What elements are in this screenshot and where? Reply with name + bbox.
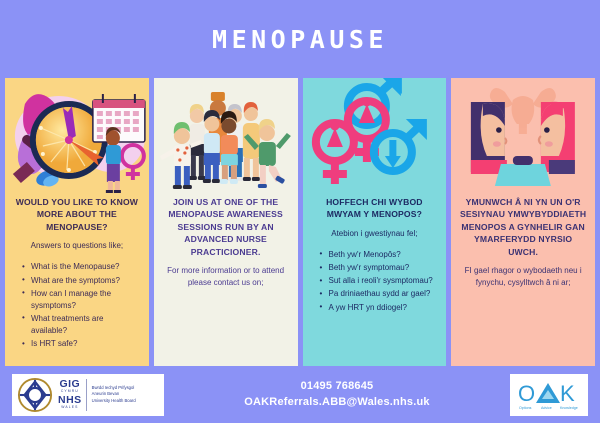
gender-symbols-icon — [303, 78, 447, 196]
list-item: What treatments are available? — [31, 313, 141, 337]
svg-text:O: O — [518, 381, 535, 406]
list-item: Beth yw'r symptomau? — [329, 262, 439, 274]
health-board-name: Bwrdd Iechyd Prifysgol Aneurin Bevan Uni… — [87, 385, 136, 405]
nhs-gig-wordmark: GIG CYMRU NHS WALES — [54, 379, 87, 411]
question-list: Beth yw'r Menopôs? Beth yw'r symptomau? … — [303, 249, 447, 315]
group-of-people-icon — [154, 78, 298, 196]
nhs-celtic-knot-icon — [16, 377, 54, 413]
nhs-wales-logo: GIG CYMRU NHS WALES Bwrdd Iechyd Prifysg… — [12, 374, 164, 416]
list-item: Pa driniaethau sydd ar gael? — [329, 288, 439, 300]
wales-text: WALES — [61, 405, 78, 410]
gig-text: GIG — [59, 379, 80, 390]
poster-footer: GIG CYMRU NHS WALES Bwrdd Iechyd Prifysg… — [0, 366, 600, 423]
svg-text:Advice: Advice — [541, 406, 552, 410]
page-title: MENOPAUSE — [212, 25, 388, 54]
list-item: Sut alla i reoli'r sysmptomau? — [329, 275, 439, 287]
email-address[interactable]: OAKReferrals.ABB@Wales.nhs.uk — [164, 395, 510, 411]
two-people-consultation-icon — [451, 78, 595, 196]
panel-english-sessions: JOIN US AT ONE OF THE MENOPAUSE AWARENES… — [154, 78, 298, 366]
phone-number[interactable]: 01495 768645 — [164, 379, 510, 395]
poster-header: MENOPAUSE — [0, 0, 600, 78]
list-item: What is the Menopause? — [31, 261, 141, 273]
board-line-3: University Health Board — [92, 398, 136, 405]
panel-subtext: Atebion i gwestiynau fel; — [322, 228, 426, 240]
svg-text:Knowledge: Knowledge — [560, 406, 578, 410]
panel-heading: YMUNWCH Â NI YN UN O'R SESIYNAU YMWYBYDD… — [451, 196, 595, 258]
panel-welsh-questions: HOFFECH CHI WYBOD MWYAM Y MENOPOS? Atebi… — [303, 78, 447, 366]
panel-welsh-sessions: YMUNWCH Â NI YN UN O'R SESIYNAU YMWYBYDD… — [451, 78, 595, 366]
svg-text:Options: Options — [519, 406, 532, 410]
list-item: Beth yw'r Menopôs? — [329, 249, 439, 261]
panel-heading: HOFFECH CHI WYBOD MWYAM Y MENOPOS? — [303, 196, 447, 221]
list-item: Is HRT safe? — [31, 338, 141, 350]
panel-subtext: FI gael rhagor o wybodaeth neu i fynychu… — [451, 265, 595, 289]
clock-calendar-woman-icon — [5, 78, 149, 196]
panel-heading: JOIN US AT ONE OF THE MENOPAUSE AWARENES… — [154, 196, 298, 258]
oak-logo: O K Options Advice Knowledge — [510, 374, 588, 416]
panel-subtext: For more information or to attend please… — [154, 265, 298, 289]
panel-english-questions: WOULD YOU LIKE TO KNOW MORE ABOUT THE ME… — [5, 78, 149, 366]
list-item: How can I manage the sysmptoms? — [31, 288, 141, 312]
oak-logo-icon: O K Options Advice Knowledge — [514, 377, 584, 413]
panels-row: WOULD YOU LIKE TO KNOW MORE ABOUT THE ME… — [0, 78, 600, 366]
nhs-text: NHS — [58, 395, 82, 406]
svg-text:K: K — [560, 381, 575, 406]
question-list: What is the Menopause? What are the symp… — [5, 261, 149, 351]
panel-subtext: Answers to questions like; — [22, 240, 133, 252]
list-item: A yw HRT yn ddiogel? — [329, 302, 439, 314]
contact-details: 01495 768645 OAKReferrals.ABB@Wales.nhs.… — [164, 379, 510, 411]
list-item: What are the symptoms? — [31, 275, 141, 287]
panel-heading: WOULD YOU LIKE TO KNOW MORE ABOUT THE ME… — [5, 196, 149, 233]
